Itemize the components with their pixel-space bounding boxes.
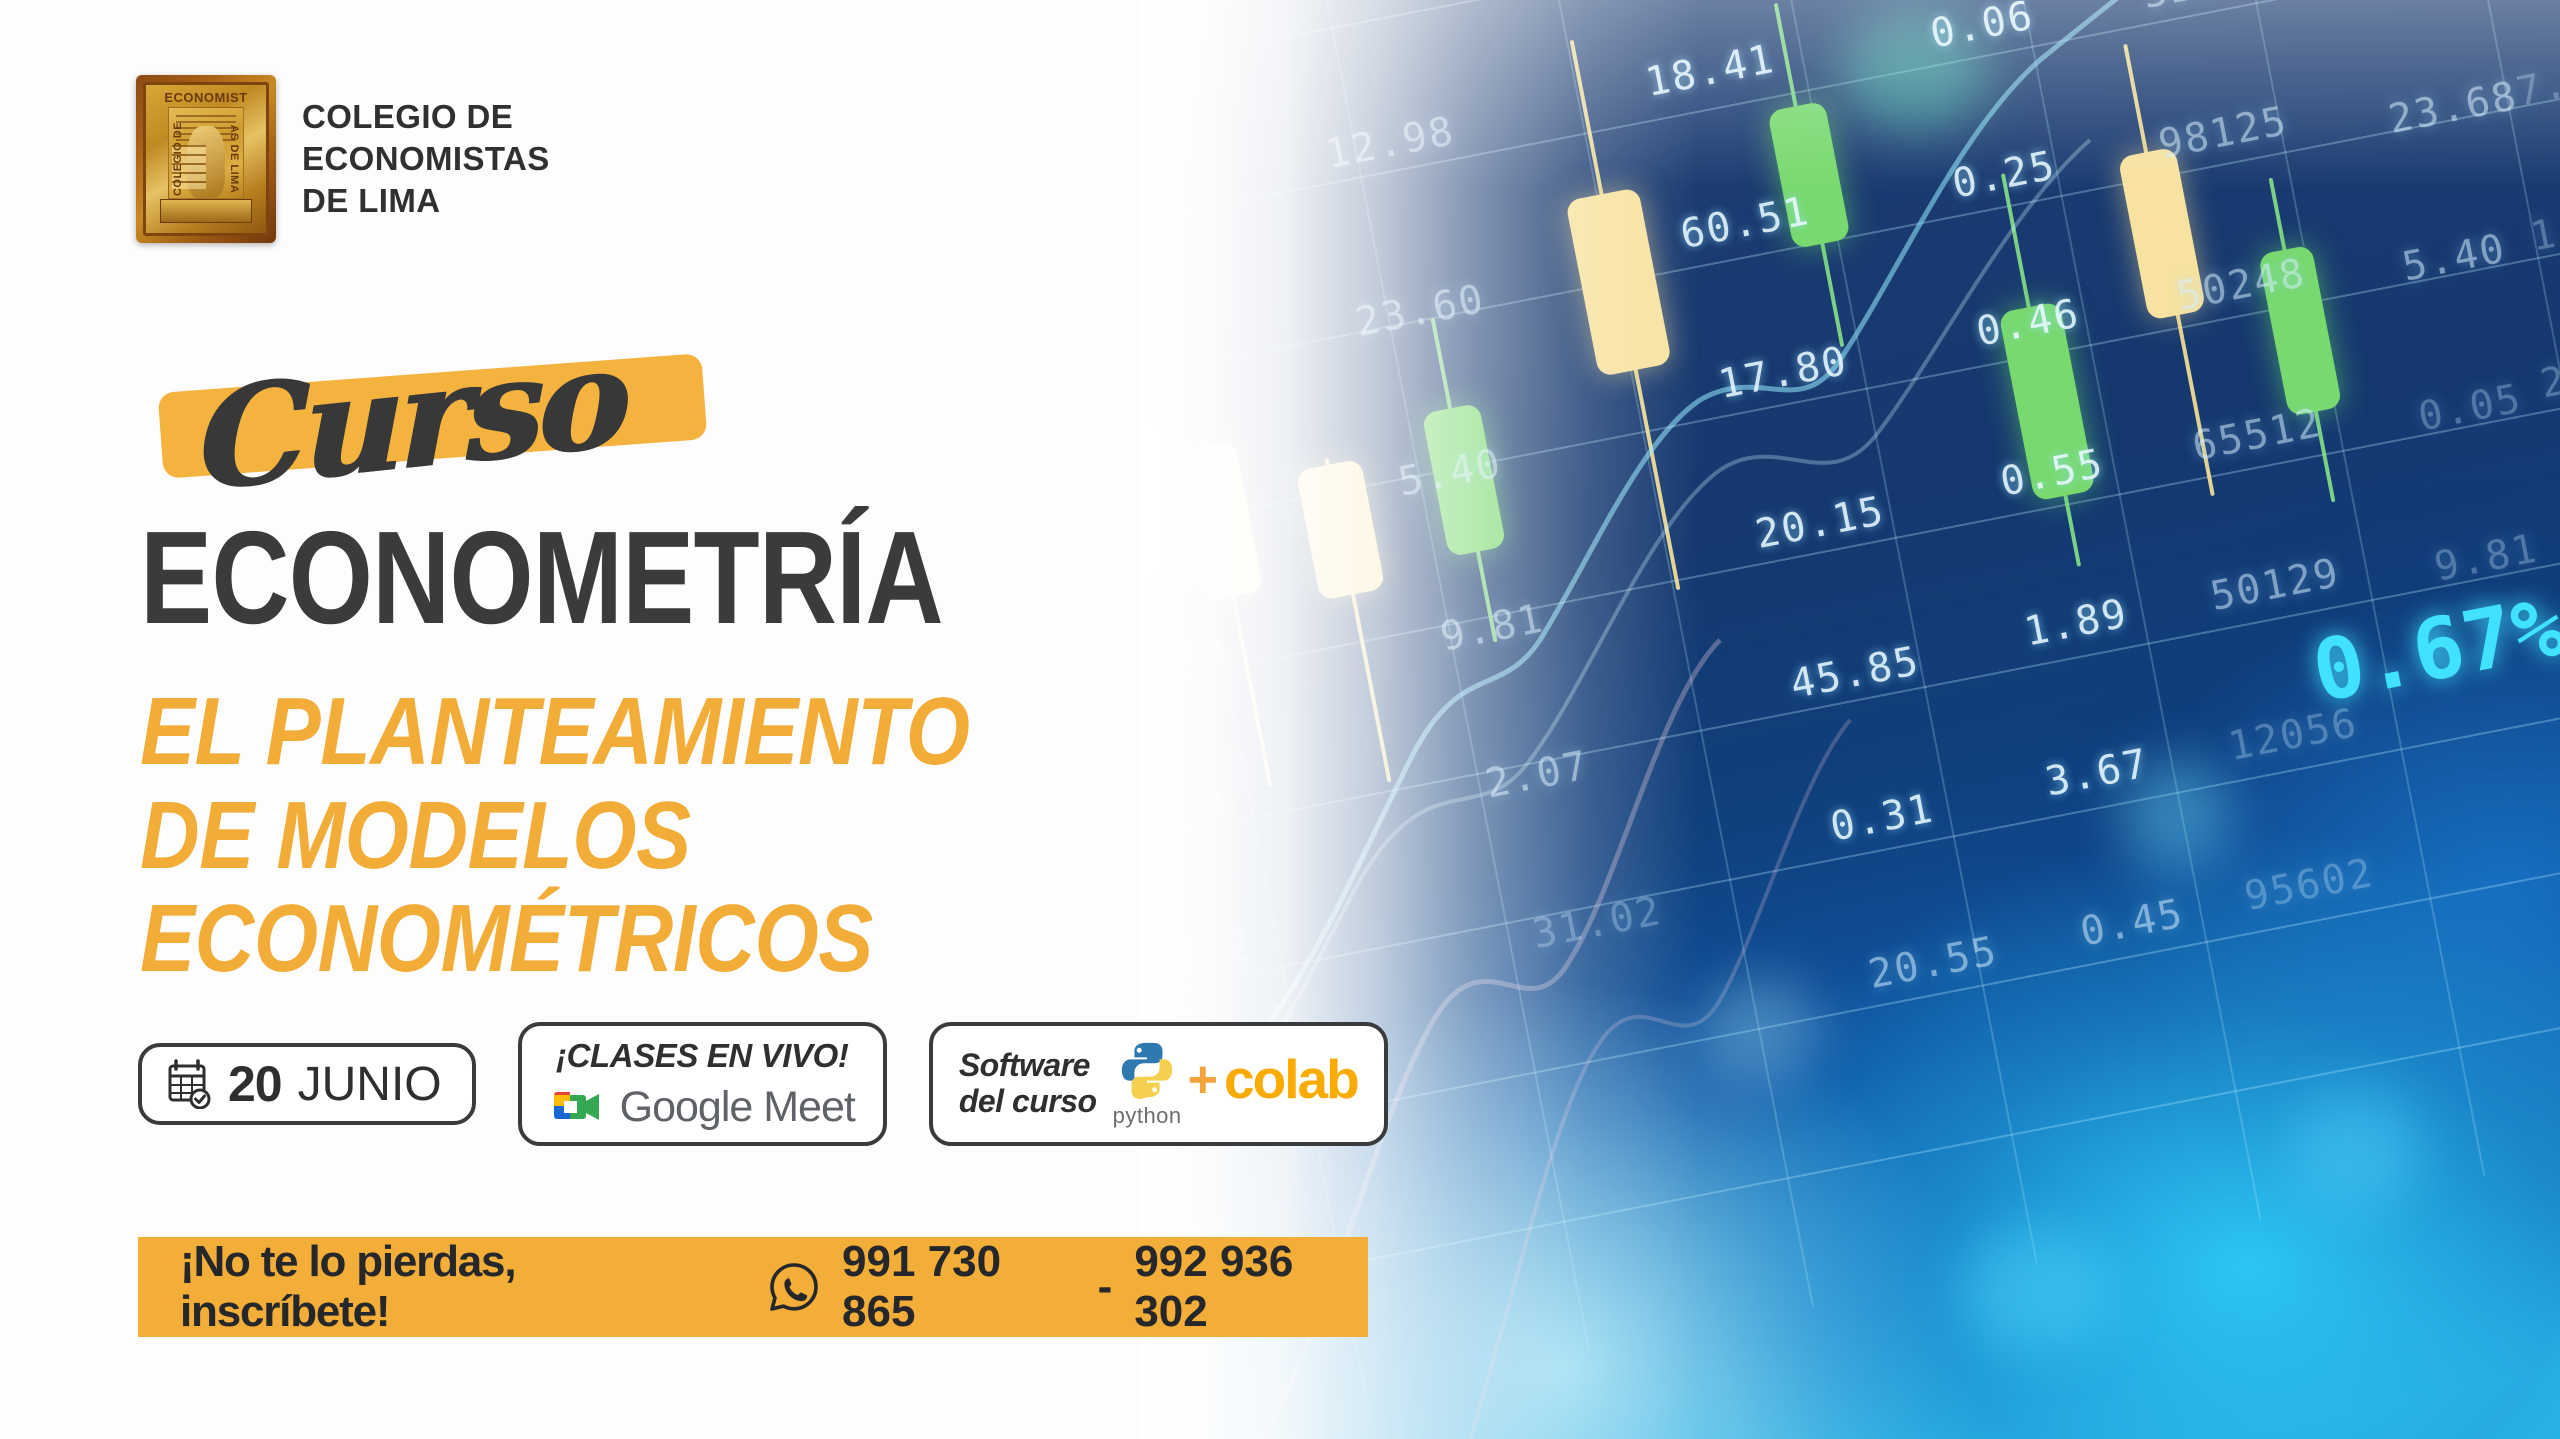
google-meet-label: Google Meet (620, 1083, 855, 1132)
page-title: ECONOMETRÍA (140, 512, 943, 644)
date-badge-month: JUNIO (298, 1057, 442, 1112)
curso-kicker: Curso (150, 345, 710, 475)
page-subtitle-line-2: DE MODELOS (140, 784, 969, 888)
software-badge-label-line-2: del curso (959, 1084, 1097, 1120)
cta-phone-1[interactable]: 991 730 865 (842, 1237, 1076, 1337)
calendar-check-icon (166, 1059, 212, 1109)
python-word-label: python (1113, 1103, 1182, 1129)
crest-top-text: ECONOMIST (146, 90, 266, 105)
brand-name-line-1: COLEGIO DE (302, 96, 550, 138)
software-badge-label: Software del curso (959, 1048, 1097, 1120)
content-column: ECONOMIST COLEGIO DE AS DE LIMA COLEGIO … (0, 0, 1400, 1439)
live-classes-badge[interactable]: ¡CLASES EN VIVO! Google Meet (518, 1022, 887, 1146)
promo-banner: 65214 65236 65412 65211 12.98 23.60 5.40… (0, 0, 2560, 1439)
software-badge[interactable]: Software del curso python + (929, 1022, 1388, 1146)
cta-phone-2[interactable]: 992 936 302 (1134, 1237, 1368, 1337)
python-logo-icon (1116, 1039, 1178, 1101)
colab-label: colab (1224, 1047, 1358, 1111)
cta-phones: 991 730 865 - 992 936 302 (768, 1237, 1368, 1337)
curso-kicker-label: Curso (199, 314, 624, 523)
software-badge-label-line-1: Software (959, 1048, 1097, 1084)
live-classes-headline: ¡CLASES EN VIVO! (556, 1037, 848, 1075)
google-meet-icon (550, 1085, 604, 1129)
page-subtitle: EL PLANTEAMIENTO DE MODELOS ECONOMÉTRICO… (140, 680, 969, 991)
cta-phone-separator: - (1098, 1262, 1113, 1312)
date-badge[interactable]: 20 JUNIO (138, 1043, 476, 1125)
crest-right-text: AS DE LIMA (228, 104, 240, 214)
badges-row: 20 JUNIO ¡CLASES EN VIVO! (138, 1022, 1388, 1146)
cta-message: ¡No te lo pierdas, inscríbete! (180, 1237, 716, 1337)
page-subtitle-line-1: EL PLANTEAMIENTO (140, 680, 969, 784)
date-badge-day: 20 (228, 1055, 282, 1113)
brand-name: COLEGIO DE ECONOMISTAS DE LIMA (302, 96, 550, 223)
brand-header: ECONOMIST COLEGIO DE AS DE LIMA COLEGIO … (136, 75, 550, 243)
crest-left-text: COLEGIO DE (172, 104, 184, 214)
whatsapp-icon (768, 1261, 820, 1313)
brand-name-line-3: DE LIMA (302, 180, 550, 222)
plus-icon: + (1188, 1050, 1218, 1110)
page-subtitle-line-3: ECONOMÉTRICOS (140, 887, 969, 991)
cta-bar[interactable]: ¡No te lo pierdas, inscríbete! 991 730 8… (138, 1237, 1368, 1337)
colegio-economistas-crest-icon: ECONOMIST COLEGIO DE AS DE LIMA (136, 75, 276, 243)
brand-name-line-2: ECONOMISTAS (302, 138, 550, 180)
